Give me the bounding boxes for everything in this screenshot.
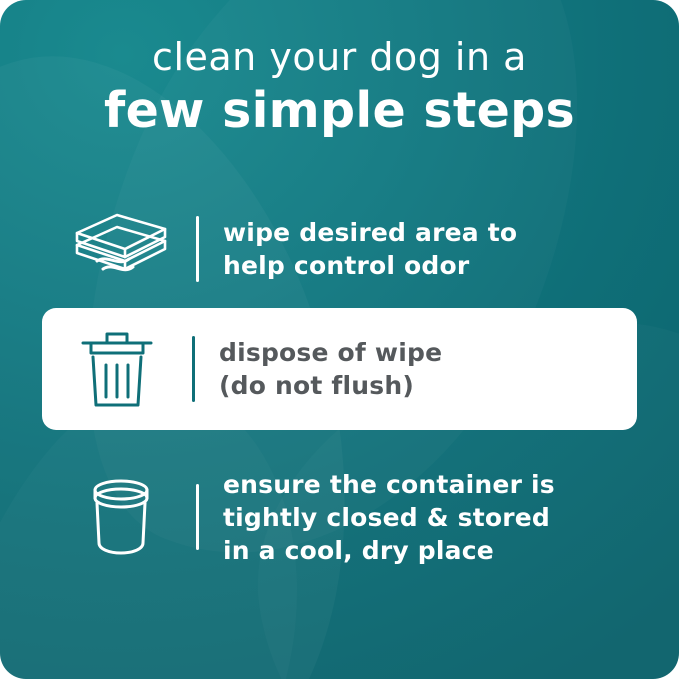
container-tub-icon — [46, 473, 196, 561]
step-divider-3 — [196, 484, 199, 550]
headline-line-2: few simple steps — [0, 82, 679, 140]
step-text-3-line-2: tightly closed & stored — [223, 501, 555, 534]
stacked-wipes-icon — [46, 207, 196, 291]
step-item-2: dispose of wipe (do not flush) — [42, 308, 637, 430]
step-item-1: wipe desired area to help control odor — [46, 190, 633, 308]
step-text-2-line-1: dispose of wipe — [219, 336, 442, 369]
headline: clean your dog in a few simple steps — [0, 34, 679, 140]
step-text-3: ensure the container is tightly closed &… — [223, 468, 555, 567]
step-text-2: dispose of wipe (do not flush) — [219, 336, 442, 402]
steps-list: wipe desired area to help control odor — [0, 190, 679, 576]
step-divider-1 — [196, 216, 199, 282]
step-item-3: ensure the container is tightly closed &… — [46, 458, 633, 576]
step-text-1: wipe desired area to help control odor — [223, 216, 517, 282]
step-text-1-line-1: wipe desired area to — [223, 216, 517, 249]
step-divider-2 — [192, 336, 195, 402]
trash-can-icon — [42, 323, 192, 415]
step-text-2-line-2: (do not flush) — [219, 369, 442, 402]
step-text-1-line-2: help control odor — [223, 249, 517, 282]
step-text-3-line-1: ensure the container is — [223, 468, 555, 501]
promo-card: clean your dog in a few simple steps — [0, 0, 679, 679]
headline-line-1: clean your dog in a — [0, 34, 679, 80]
step-text-3-line-3: in a cool, dry place — [223, 534, 555, 567]
